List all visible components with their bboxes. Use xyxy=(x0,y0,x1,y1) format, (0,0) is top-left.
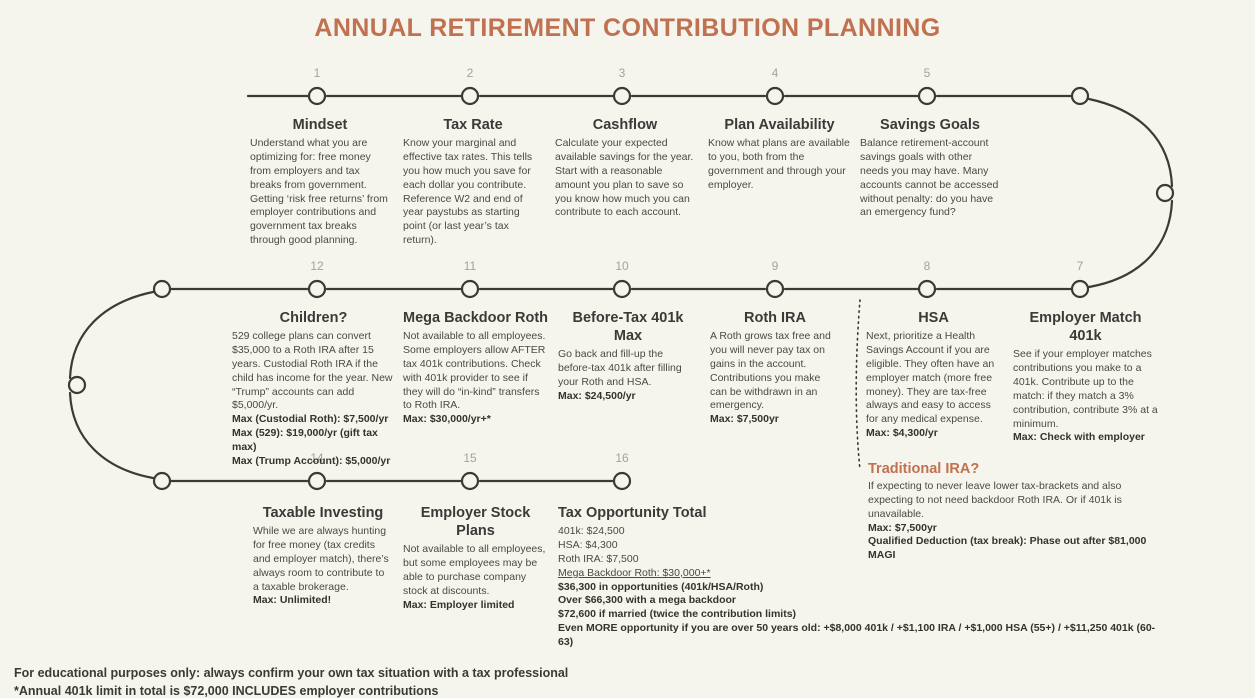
step-body-taxable-investing: While we are always hunting for free mon… xyxy=(253,525,393,608)
step-desc-children: 529 college plans can convert $35,000 to… xyxy=(232,330,393,411)
footer-footnote: *Annual 401k limit in total is $72,000 I… xyxy=(14,684,438,698)
node-number-8: 8 xyxy=(907,259,947,273)
step-max-children-custodial: Max (Custodial Roth): $7,500/yr xyxy=(232,413,395,427)
step-title-before-tax-401k-max: Before-Tax 401k Max xyxy=(558,309,698,345)
step-title-taxable-investing: Taxable Investing xyxy=(253,504,393,522)
callout-note-traditional-ira: Qualified Deduction (tax break): Phase o… xyxy=(868,535,1158,563)
total-line-mega-backdoor-total: Over $66,300 with a mega backdoor xyxy=(558,594,1158,608)
node-number-2: 2 xyxy=(450,66,490,80)
step-body-plan-availability: Know what plans are available to you, bo… xyxy=(708,137,851,192)
callout-max-traditional-ira: Max: $7,500yr xyxy=(868,522,1158,536)
step-mindset: Mindset Understand what you are optimizi… xyxy=(250,116,390,248)
step-cashflow: Cashflow Calculate your expected availab… xyxy=(555,116,695,220)
step-desc-roth-ira: A Roth grows tax free and you will never… xyxy=(710,330,831,411)
step-title-roth-ira: Roth IRA xyxy=(710,309,840,327)
step-max-hsa: Max: $4,300/yr xyxy=(866,427,1001,441)
footer-disclaimer: For educational purposes only: always co… xyxy=(14,666,568,680)
step-children: Children? 529 college plans can convert … xyxy=(232,309,395,469)
step-max-employer-match-401k: Max: Check with employer xyxy=(1013,431,1158,445)
total-line-mega-backdoor: Mega Backdoor Roth: $30,000+* xyxy=(558,567,1158,581)
step-title-mindset: Mindset xyxy=(250,116,390,134)
step-before-tax-401k-max: Before-Tax 401k Max Go back and fill-up … xyxy=(558,309,698,404)
node-number-3: 3 xyxy=(602,66,642,80)
node-number-11: 11 xyxy=(450,259,490,273)
step-desc-hsa: Next, prioritize a Health Savings Accoun… xyxy=(866,330,994,425)
step-title-hsa: HSA xyxy=(866,309,1001,327)
step-desc-before-tax-401k-max: Go back and fill-up the before-tax 401k … xyxy=(558,348,682,388)
node-number-15: 15 xyxy=(450,451,490,465)
step-mega-backdoor-roth: Mega Backdoor Roth Not available to all … xyxy=(403,309,548,427)
step-tax-rate: Tax Rate Know your marginal and effectiv… xyxy=(403,116,543,248)
step-body-mega-backdoor-roth: Not available to all employees. Some emp… xyxy=(403,330,548,427)
step-savings-goals: Savings Goals Balance retirement-account… xyxy=(860,116,1000,220)
node-number-9: 9 xyxy=(755,259,795,273)
step-title-mega-backdoor-roth: Mega Backdoor Roth xyxy=(403,309,548,327)
step-employer-stock-plans: Employer Stock Plans Not available to al… xyxy=(403,504,548,613)
callout-traditional-ira: Traditional IRA? If expecting to never l… xyxy=(868,461,1158,563)
node-number-16: 16 xyxy=(602,451,642,465)
step-taxable-investing: Taxable Investing While we are always hu… xyxy=(253,504,393,608)
step-body-before-tax-401k-max: Go back and fill-up the before-tax 401k … xyxy=(558,348,698,403)
step-body-savings-goals: Balance retirement-account savings goals… xyxy=(860,137,1000,220)
step-title-employer-stock-plans: Employer Stock Plans xyxy=(403,504,548,540)
step-max-employer-stock-plans: Max: Employer limited xyxy=(403,599,548,613)
node-number-4: 4 xyxy=(755,66,795,80)
step-title-cashflow: Cashflow xyxy=(555,116,695,134)
step-max-children-529: Max (529): $19,000/yr (gift tax max) xyxy=(232,427,395,455)
step-plan-availability: Plan Availability Know what plans are av… xyxy=(708,116,851,193)
callout-desc-traditional-ira: If expecting to never leave lower tax-br… xyxy=(868,480,1122,520)
page-title: ANNUAL RETIREMENT CONTRIBUTION PLANNING xyxy=(0,14,1255,43)
node-number-12: 12 xyxy=(297,259,337,273)
step-title-children: Children? xyxy=(232,309,395,327)
step-body-roth-ira: A Roth grows tax free and you will never… xyxy=(710,330,840,427)
node-number-10: 10 xyxy=(602,259,642,273)
node-number-5: 5 xyxy=(907,66,947,80)
step-max-mega-backdoor-roth: Max: $30,000/yr+* xyxy=(403,413,548,427)
step-title-employer-match-401k: Employer Match 401k xyxy=(1013,309,1158,345)
step-desc-taxable-investing: While we are always hunting for free mon… xyxy=(253,525,389,592)
step-title-tax-rate: Tax Rate xyxy=(403,116,543,134)
step-body-cashflow: Calculate your expected available saving… xyxy=(555,137,695,220)
step-body-mindset: Understand what you are optimizing for: … xyxy=(250,137,390,248)
step-roth-ira: Roth IRA A Roth grows tax free and you w… xyxy=(710,309,840,427)
step-max-before-tax-401k-max: Max: $24,500/yr xyxy=(558,390,698,404)
callout-title-traditional-ira: Traditional IRA? xyxy=(868,461,1158,477)
step-title-savings-goals: Savings Goals xyxy=(860,116,1000,134)
step-body-children: 529 college plans can convert $35,000 to… xyxy=(232,330,395,469)
step-desc-employer-stock-plans: Not available to all employees, but some… xyxy=(403,543,545,597)
step-title-plan-availability: Plan Availability xyxy=(708,116,851,134)
step-body-employer-match-401k: See if your employer matches contributio… xyxy=(1013,348,1158,445)
step-max-roth-ira: Max: $7,500yr xyxy=(710,413,840,427)
total-line-opportunities: $36,300 in opportunities (401k/HSA/Roth) xyxy=(558,581,1158,595)
callout-body-traditional-ira: If expecting to never leave lower tax-br… xyxy=(868,480,1158,563)
step-max-children-trump: Max (Trump Account): $5,000/yr xyxy=(232,455,395,469)
node-number-7: 7 xyxy=(1060,259,1100,273)
step-desc-mega-backdoor-roth: Not available to all employees. Some emp… xyxy=(403,330,545,411)
step-body-tax-rate: Know your marginal and effective tax rat… xyxy=(403,137,543,248)
step-desc-employer-match-401k: See if your employer matches contributio… xyxy=(1013,348,1158,429)
step-max-taxable-investing: Max: Unlimited! xyxy=(253,594,393,608)
node-number-1: 1 xyxy=(297,66,337,80)
step-body-hsa: Next, prioritize a Health Savings Accoun… xyxy=(866,330,1001,441)
total-line-catch-up: Even MORE opportunity if you are over 50… xyxy=(558,622,1158,650)
step-employer-match-401k: Employer Match 401k See if your employer… xyxy=(1013,309,1158,445)
step-body-employer-stock-plans: Not available to all employees, but some… xyxy=(403,543,548,612)
content-layer: ANNUAL RETIREMENT CONTRIBUTION PLANNING … xyxy=(0,0,1255,694)
total-line-married: $72,600 if married (twice the contributi… xyxy=(558,608,1158,622)
step-hsa: HSA Next, prioritize a Health Savings Ac… xyxy=(866,309,1001,441)
